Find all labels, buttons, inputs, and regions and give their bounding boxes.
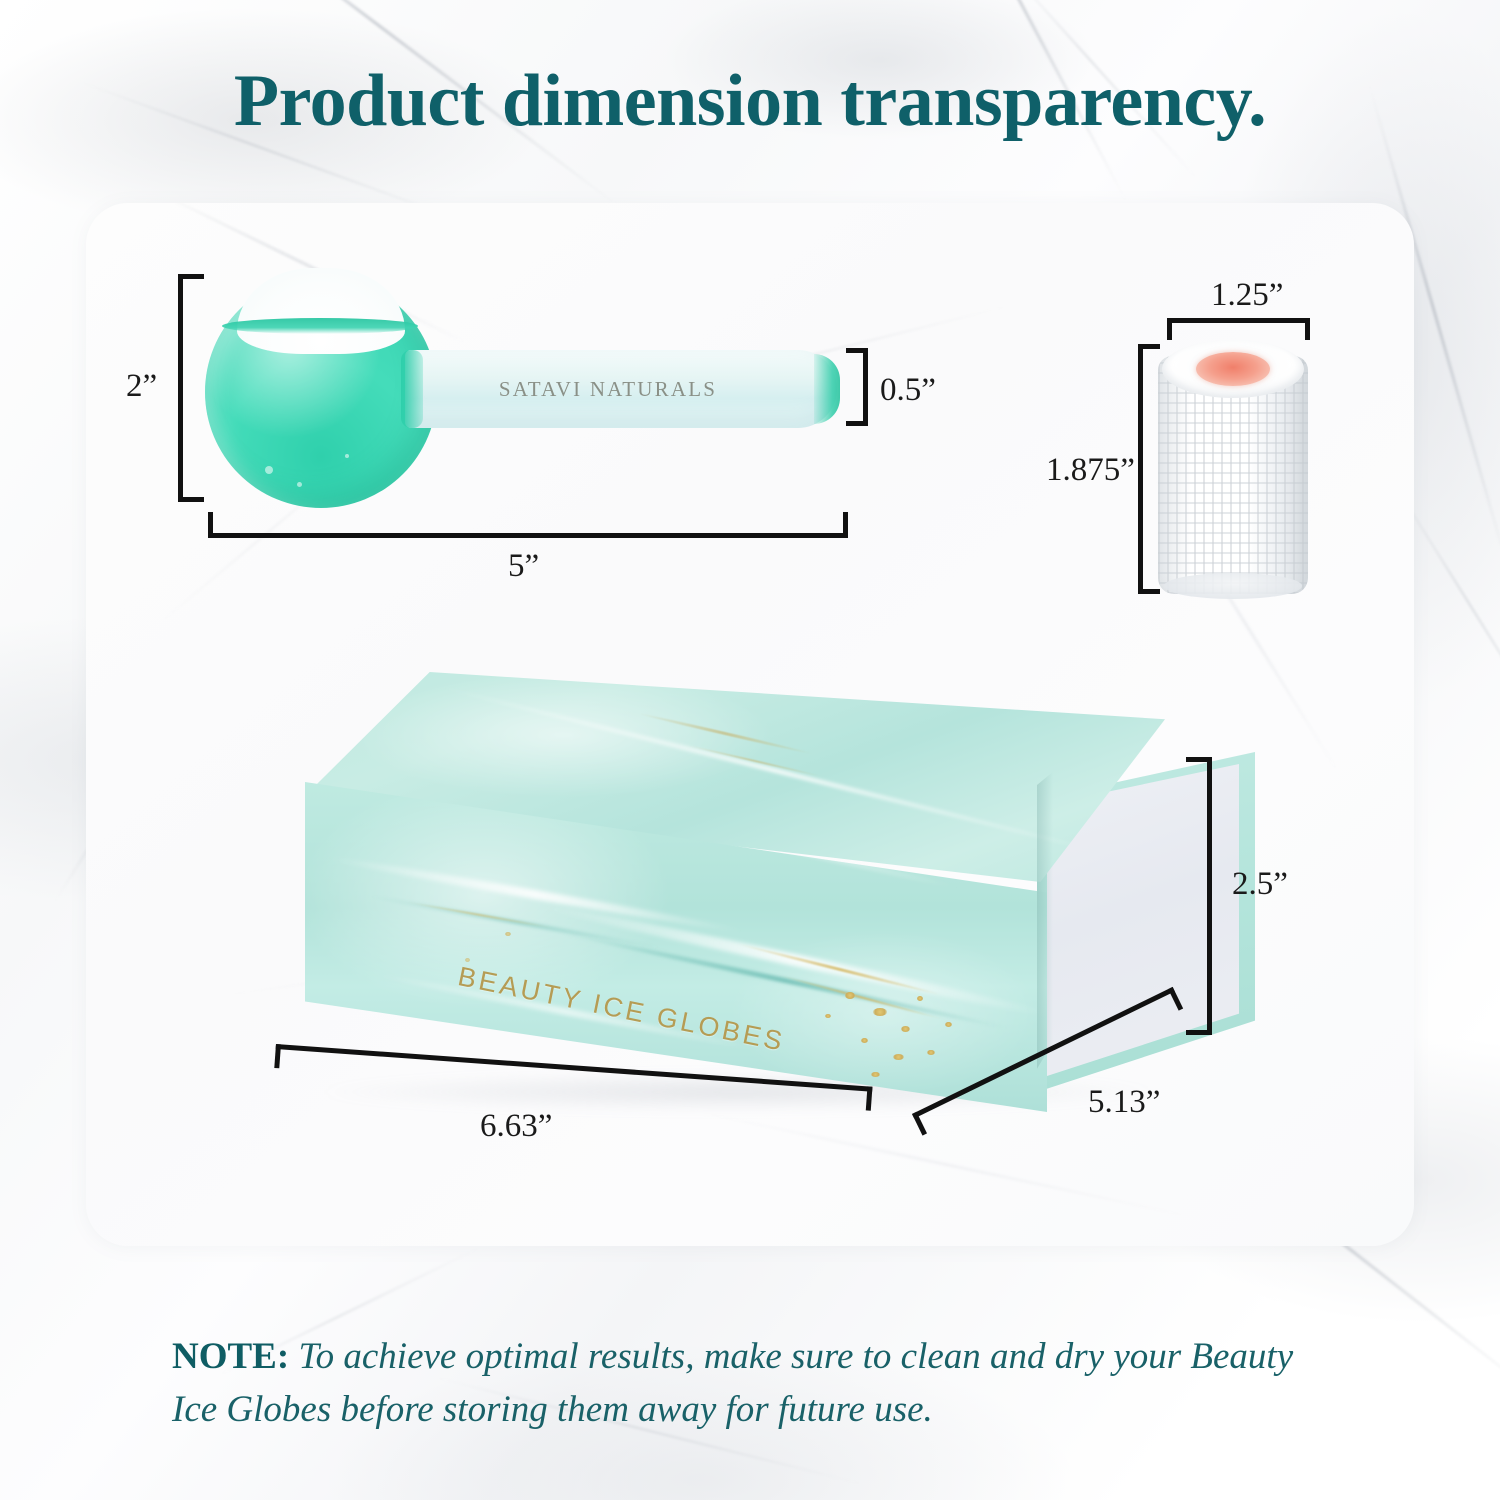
bubble xyxy=(345,454,349,458)
page-title: Product dimension transparency. xyxy=(0,62,1500,142)
ice-globe-product: SATAVI NATURALS xyxy=(205,258,855,508)
gold-splash xyxy=(901,1026,910,1032)
gold-streak xyxy=(738,943,942,997)
dimension-label-globe-height: 2” xyxy=(126,368,157,405)
handle-tip xyxy=(814,354,840,424)
gold-splash xyxy=(861,1038,868,1043)
gold-streak xyxy=(637,712,813,755)
dimension-label-box-width: 6.63” xyxy=(480,1108,552,1145)
gold-splash xyxy=(873,1008,887,1016)
dimension-label-handle-diameter: 0.5” xyxy=(880,372,936,409)
gold-splash xyxy=(505,932,511,936)
gold-splash xyxy=(893,1054,904,1060)
bracket-box-height xyxy=(1186,757,1212,1035)
silicone-sleeve-interior xyxy=(1196,352,1270,386)
ice-globe-handle: SATAVI NATURALS xyxy=(405,350,837,428)
note-text: NOTE: To achieve optimal results, make s… xyxy=(172,1331,1332,1436)
brand-text-globe: SATAVI NATURALS xyxy=(405,377,811,402)
dimension-label-sleeve-width: 1.25” xyxy=(1211,277,1283,314)
dimension-label-globe-length: 5” xyxy=(508,548,539,585)
gold-splash xyxy=(945,1022,952,1027)
gold-streak xyxy=(687,744,824,777)
gold-splash xyxy=(845,992,855,999)
bubble xyxy=(265,466,273,474)
dimension-label-sleeve-height: 1.875” xyxy=(1046,452,1135,489)
bubble xyxy=(297,482,302,487)
dimension-label-box-depth: 5.13” xyxy=(1088,1084,1160,1121)
bracket-globe-height xyxy=(178,274,204,502)
silicone-sleeve-product xyxy=(1158,340,1308,595)
ice-globe-glass-cap xyxy=(237,268,405,354)
gold-splash xyxy=(871,1072,880,1077)
bracket-handle-diameter xyxy=(846,348,868,426)
bracket-globe-length xyxy=(208,512,848,538)
gold-streak xyxy=(406,901,554,929)
bracket-sleeve-width xyxy=(1167,318,1310,340)
dimension-label-box-height: 2.5” xyxy=(1232,866,1288,903)
note-prefix: NOTE: xyxy=(172,1336,289,1377)
silicone-sleeve-base xyxy=(1164,573,1302,599)
gold-splash xyxy=(825,1014,831,1018)
box-edge-shadow xyxy=(1037,752,1053,1082)
infographic-page: Product dimension transparency. SATAVI N… xyxy=(0,0,1500,1500)
brand-text-box: BEAUTY ICE GLOBES xyxy=(455,961,787,1058)
note-body: To achieve optimal results, make sure to… xyxy=(172,1336,1293,1430)
gold-splash xyxy=(927,1050,935,1055)
ice-globe-liquid-line xyxy=(222,318,418,334)
gold-splash xyxy=(917,996,923,1001)
bracket-sleeve-height xyxy=(1138,344,1160,594)
